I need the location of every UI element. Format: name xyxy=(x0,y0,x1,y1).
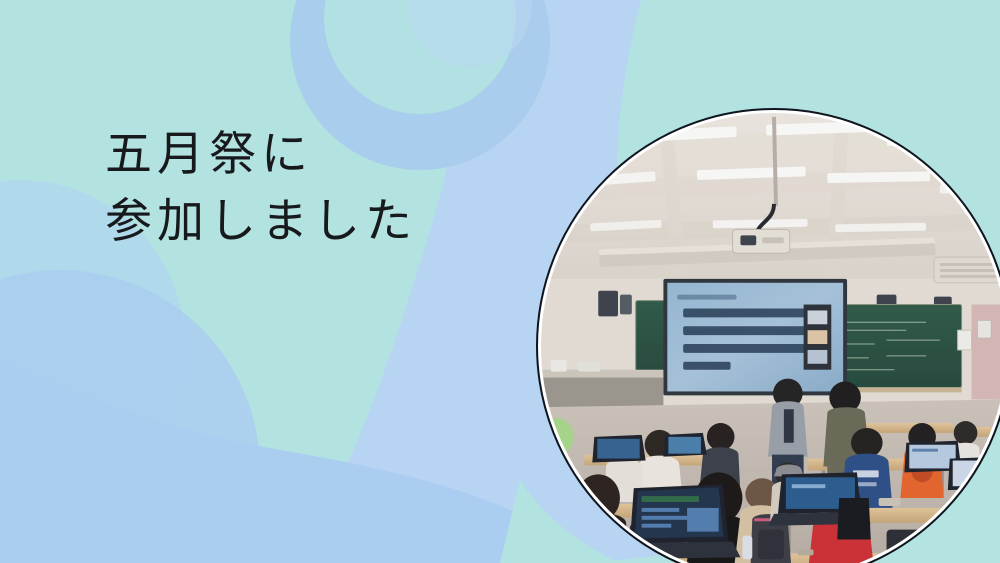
photo-image xyxy=(539,111,1000,563)
student-far-left-dark xyxy=(539,486,575,563)
classroom-photo xyxy=(536,108,1000,563)
title-line-1: 五月祭に xyxy=(105,122,525,189)
page-title: 五月祭に 参加しました xyxy=(105,122,525,255)
photo-tone xyxy=(539,111,1000,563)
slide-canvas: 五月祭に 参加しました xyxy=(0,0,1000,563)
title-line-2: 参加しました xyxy=(105,189,525,256)
